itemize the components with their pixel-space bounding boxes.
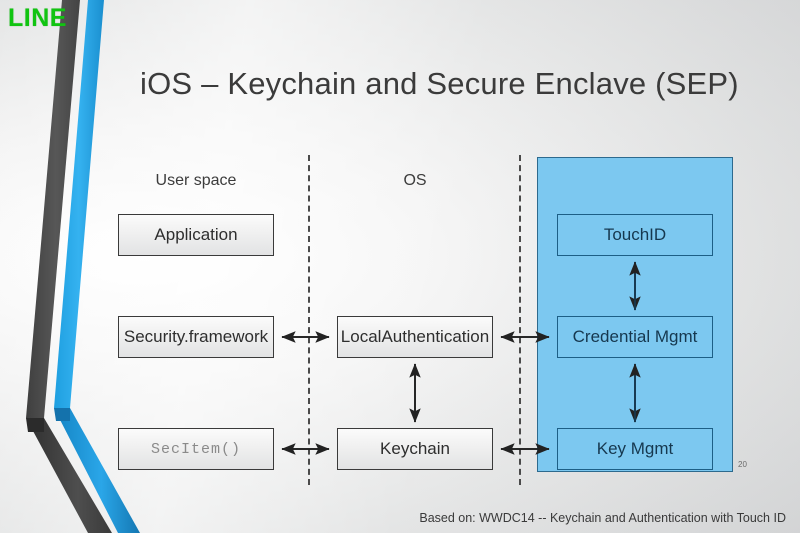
slide-canvas: LINE iOS – Keychain and Secure Enclave (…: [0, 0, 800, 533]
node-keychain[interactable]: Keychain: [337, 428, 493, 470]
divider-user-space-os: [308, 155, 310, 485]
column-header-os: OS: [337, 172, 493, 190]
node-application[interactable]: Application: [118, 214, 274, 256]
column-header-user-space: User space: [118, 172, 274, 190]
node-credential-mgmt[interactable]: Credential Mgmt: [557, 316, 713, 358]
node-security-framework[interactable]: Security.framework: [118, 316, 274, 358]
node-touchid[interactable]: TouchID: [557, 214, 713, 256]
page-title: iOS – Keychain and Secure Enclave (SEP): [140, 66, 760, 102]
divider-os-secure-enclave: [519, 155, 521, 485]
secure-enclave-panel: [537, 157, 733, 472]
node-local-authentication[interactable]: LocalAuthentication: [337, 316, 493, 358]
node-secitem[interactable]: SecItem(): [118, 428, 274, 470]
page-number: 20: [738, 460, 747, 469]
node-key-mgmt[interactable]: Key Mgmt: [557, 428, 713, 470]
source-footnote: Based on: WWDC14 -- Keychain and Authent…: [419, 511, 786, 525]
line-logo: LINE: [8, 4, 67, 33]
